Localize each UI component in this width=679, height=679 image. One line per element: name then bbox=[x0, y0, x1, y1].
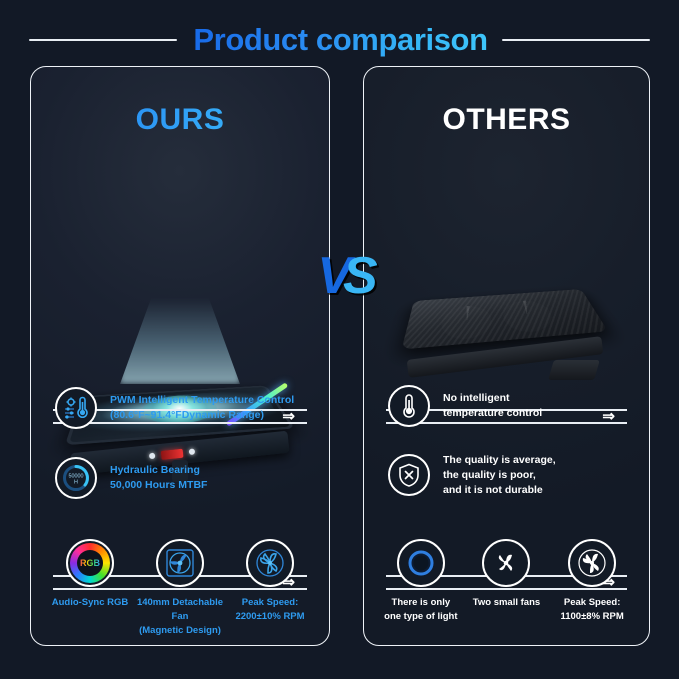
vs-badge: V S bbox=[308, 243, 384, 309]
feature-quality-line1: The quality is average, bbox=[443, 453, 556, 468]
highlights-others: There is only one type of light Two smal… bbox=[378, 539, 635, 624]
highlight-single-light-label: There is only one type of light bbox=[384, 596, 457, 624]
feature-text-bearing: Hydraulic Bearing 50,000 Hours MTBF bbox=[110, 463, 207, 493]
highlight-single-light: There is only one type of light bbox=[378, 539, 463, 624]
feature-quality-line3: and it is not durable bbox=[443, 483, 556, 498]
product-image-ours bbox=[31, 217, 329, 387]
rgb-ring-icon: RGB bbox=[66, 539, 114, 587]
highlight-speed-label: Peak Speed: 2200±10% RPM bbox=[235, 596, 304, 624]
feature-row-quality: The quality is average, the quality is p… bbox=[388, 453, 638, 498]
highlight-speed-line1: Peak Speed: bbox=[235, 596, 304, 610]
plain-laptop-cooling-pad-icon bbox=[407, 278, 607, 382]
highlight-two-fans-label: Two small fans bbox=[473, 596, 540, 610]
header-rule-left-icon bbox=[29, 39, 177, 41]
highlight-fan-label: 140mm Detachable Fan (Magnetic Design) bbox=[135, 596, 224, 637]
highlight-fans-line1: Two small fans bbox=[473, 596, 540, 610]
infographic-canvas: Product comparison OURS bbox=[0, 0, 679, 679]
highlight-light-line2: one type of light bbox=[384, 610, 457, 624]
feature-pwm-line2: (80.6°F~91.4°FDynamic Range) bbox=[110, 408, 294, 423]
highlight-others-speed-label: Peak Speed: 1100±8% RPM bbox=[560, 596, 623, 624]
panel-others: OTHERS ⇒ bbox=[363, 66, 650, 646]
rgb-badge-label: RGB bbox=[80, 558, 100, 568]
feature-bearing-line1: Hydraulic Bearing bbox=[110, 463, 207, 478]
thermometer-icon bbox=[388, 385, 430, 427]
highlight-speed-line2: 2200±10% RPM bbox=[235, 610, 304, 624]
highlight-two-fans: Two small fans bbox=[464, 539, 549, 624]
smart-temperature-icon bbox=[55, 387, 97, 429]
header-rule-right-icon bbox=[502, 39, 650, 41]
feature-row-no-temp: No intelligent temperature control bbox=[388, 385, 638, 427]
feature-text-quality: The quality is average, the quality is p… bbox=[443, 453, 556, 498]
bearing-gauge-icon: 50000 H bbox=[55, 457, 97, 499]
feature-text-pwm: PWM Intelligent Temperature Control (80.… bbox=[110, 393, 294, 423]
product-image-others bbox=[364, 255, 649, 405]
competitor-fan-left-icon bbox=[439, 304, 493, 341]
vs-letter-s: S bbox=[343, 246, 375, 306]
feature-quality-line2: the quality is poor, bbox=[443, 468, 556, 483]
highlight-others-speed-line2: 1100±8% RPM bbox=[560, 610, 623, 624]
feature-text-no-temp: No intelligent temperature control bbox=[443, 391, 542, 421]
panel-ours-title: OURS bbox=[31, 103, 329, 137]
peak-speed-fan-icon bbox=[246, 539, 294, 587]
header: Product comparison bbox=[0, 18, 679, 62]
detachable-fan-icon bbox=[156, 539, 204, 587]
peak-speed-fan-icon bbox=[568, 539, 616, 587]
panel-ours: OURS bbox=[30, 66, 330, 646]
highlight-others-speed: Peak Speed: 1100±8% RPM bbox=[550, 539, 635, 624]
highlight-rgb: RGB Audio-Sync RGB bbox=[45, 539, 134, 637]
feature-pwm-line1: PWM Intelligent Temperature Control bbox=[110, 393, 294, 408]
highlights-ours: RGB Audio-Sync RGB bbox=[45, 539, 315, 637]
feature-no-temp-line2: temperature control bbox=[443, 406, 542, 421]
feature-no-temp-line1: No intelligent bbox=[443, 391, 542, 406]
panel-others-title: OTHERS bbox=[364, 103, 649, 137]
highlight-rgb-label: Audio-Sync RGB bbox=[52, 596, 129, 610]
rgb-ring-gradient: RGB bbox=[70, 543, 110, 583]
highlight-fan-line1: 140mm Detachable Fan bbox=[135, 596, 224, 624]
single-light-ring-icon bbox=[397, 539, 445, 587]
highlight-rgb-line1: Audio-Sync RGB bbox=[52, 596, 129, 610]
shield-cross-icon bbox=[388, 454, 430, 496]
feature-row-bearing: 50000 H Hydraulic Bearing 50,000 Hours M… bbox=[55, 457, 317, 499]
page-title: Product comparison bbox=[193, 22, 487, 58]
small-fan-icon bbox=[482, 539, 530, 587]
indicator-led-right-icon bbox=[189, 448, 196, 455]
highlight-others-speed-line1: Peak Speed: bbox=[560, 596, 623, 610]
highlight-speed: Peak Speed: 2200±10% RPM bbox=[225, 539, 314, 637]
competitor-pad-stand bbox=[548, 360, 600, 380]
feature-row-pwm: PWM Intelligent Temperature Control (80.… bbox=[55, 387, 317, 429]
highlight-light-line1: There is only bbox=[384, 596, 457, 610]
feature-bearing-line2: 50,000 Hours MTBF bbox=[110, 478, 207, 493]
rgb-ring-center: RGB bbox=[77, 550, 103, 576]
highlight-fan: 140mm Detachable Fan (Magnetic Design) bbox=[135, 539, 224, 637]
highlight-fan-line2: (Magnetic Design) bbox=[135, 624, 224, 638]
competitor-fan-right-icon bbox=[500, 299, 557, 334]
airflow-glow bbox=[120, 298, 240, 384]
svg-text:H: H bbox=[74, 480, 78, 486]
